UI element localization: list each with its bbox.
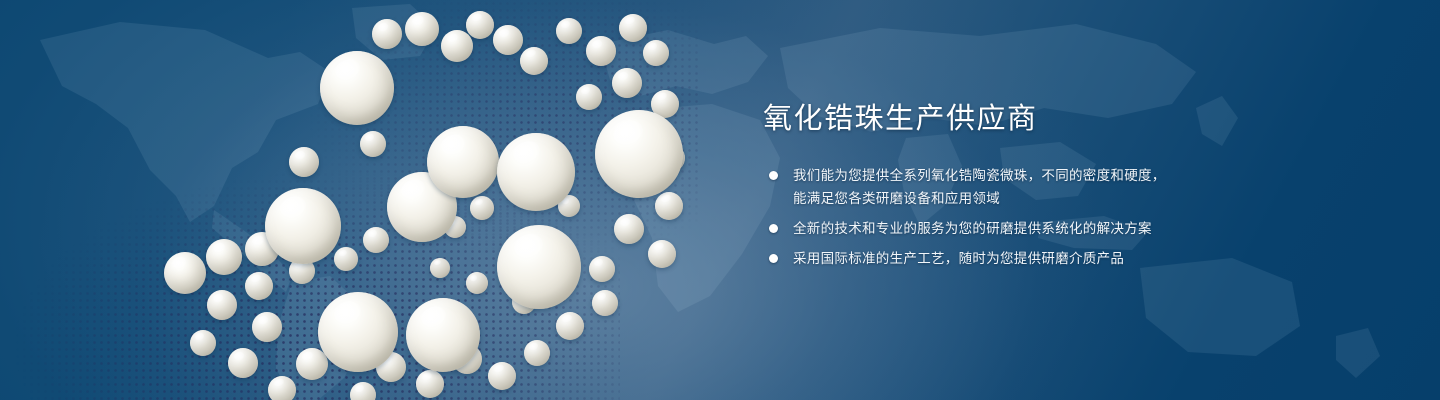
list-item: 采用国际标准的生产工艺，随时为您提供研磨介质产品 xyxy=(763,247,1383,270)
list-item-line: 我们能为您提供全系列氧化锆陶瓷微珠，不同的密度和硬度， xyxy=(793,164,1383,187)
page-title: 氧化锆珠生产供应商 xyxy=(763,104,1383,136)
product-hero-banner: 氧化锆珠生产供应商 我们能为您提供全系列氧化锆陶瓷微珠，不同的密度和硬度， 能满… xyxy=(0,0,1440,400)
list-item-line: 采用国际标准的生产工艺，随时为您提供研磨介质产品 xyxy=(793,247,1383,270)
feature-list: 我们能为您提供全系列氧化锆陶瓷微珠，不同的密度和硬度， 能满足您各类研磨设备和应… xyxy=(763,164,1383,270)
bullet-dot-icon xyxy=(769,224,778,233)
list-item: 全新的技术和专业的服务为您的研磨提供系统化的解决方案 xyxy=(763,217,1383,240)
list-item-line: 能满足您各类研磨设备和应用领域 xyxy=(793,187,1383,210)
bullet-dot-icon xyxy=(769,254,778,263)
bullet-dot-icon xyxy=(769,171,778,180)
list-item-line: 全新的技术和专业的服务为您的研磨提供系统化的解决方案 xyxy=(793,217,1383,240)
list-item: 我们能为您提供全系列氧化锆陶瓷微珠，不同的密度和硬度， 能满足您各类研磨设备和应… xyxy=(763,164,1383,210)
banner-content: 氧化锆珠生产供应商 我们能为您提供全系列氧化锆陶瓷微珠，不同的密度和硬度， 能满… xyxy=(763,104,1383,270)
